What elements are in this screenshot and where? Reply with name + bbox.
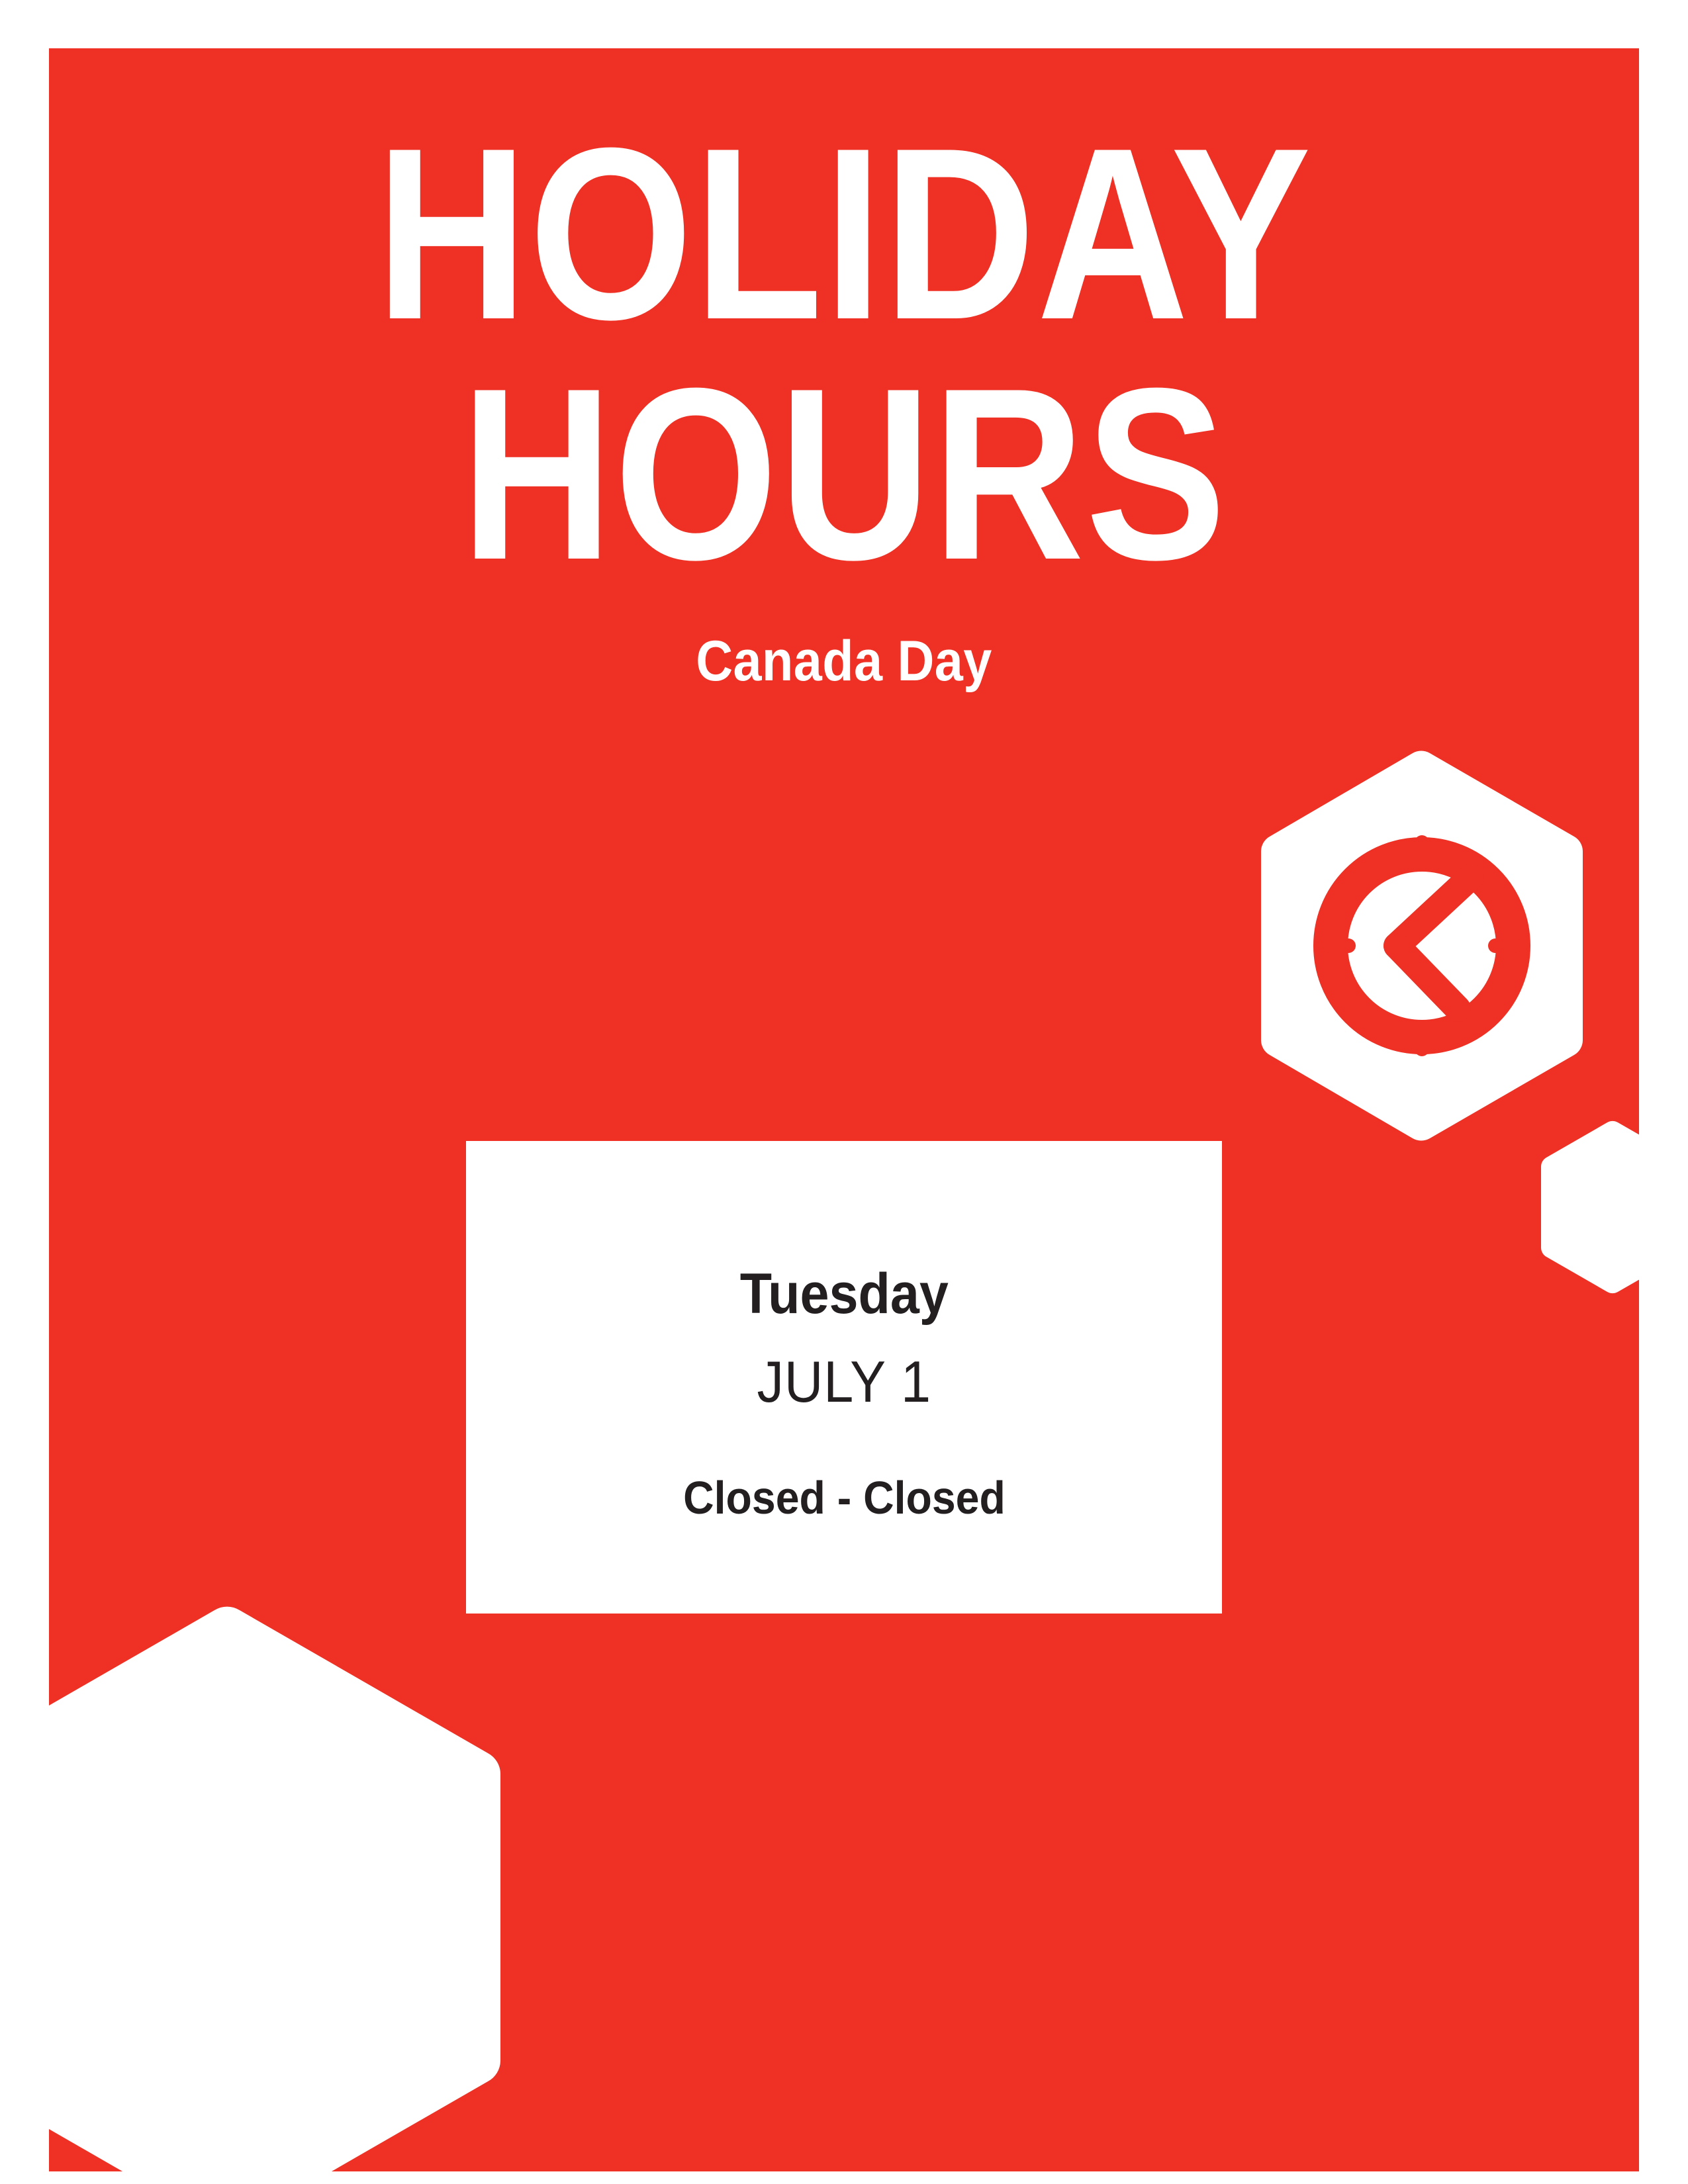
page-title-line-2: HOURS [160,355,1528,595]
card-date-label: JULY 1 [757,1353,931,1411]
page-subtitle: Canada Day [128,633,1560,690]
hexagon-icon-right-edge [1536,1118,1639,1296]
hexagon-icon-bottom-left [49,1560,500,2171]
clock-icon [1252,749,1591,1142]
card-hours-label: Closed - Closed [683,1475,1006,1521]
holiday-info-card: Tuesday JULY 1 Closed - Closed [466,1141,1222,1614]
poster-header: HOLIDAY HOURS Canada Day [49,114,1639,690]
holiday-hours-poster: HOLIDAY HOURS Canada Day [49,48,1639,2171]
card-day-label: Tuesday [739,1265,948,1322]
page-title-line-1: HOLIDAY [160,114,1528,355]
